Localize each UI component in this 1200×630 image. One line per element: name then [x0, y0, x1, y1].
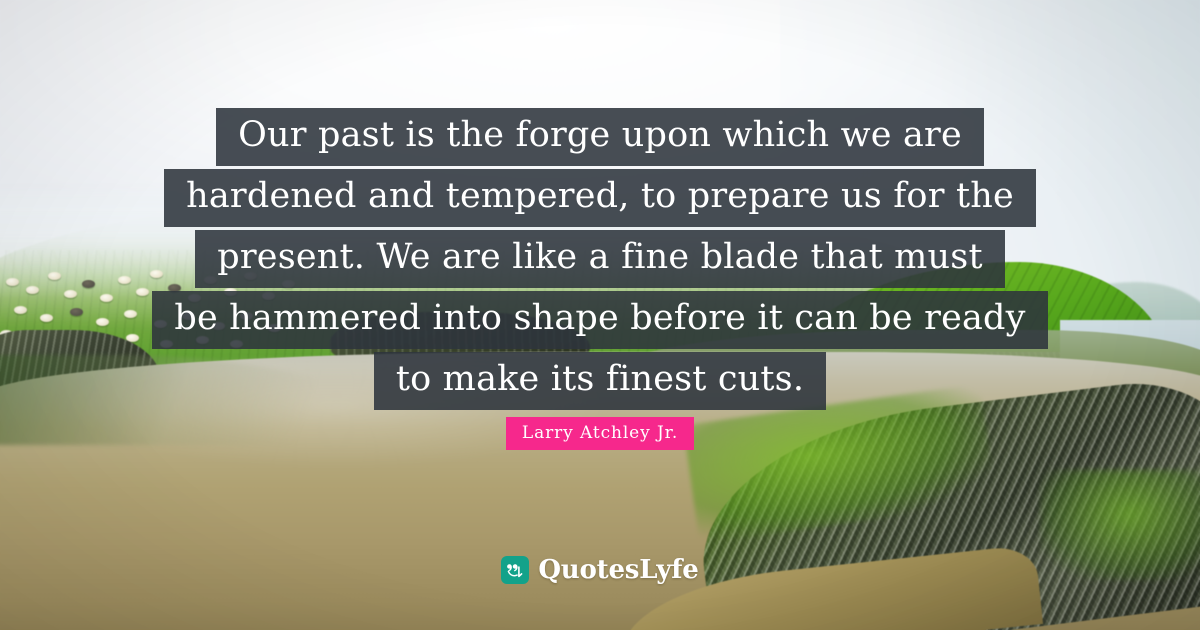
quote-line: Our past is the forge upon which we are [216, 108, 984, 166]
author-name-badge: Larry Atchley Jr. [506, 417, 694, 450]
quote-text-block: Our past is the forge upon which we are … [0, 108, 1200, 413]
quote-line: present. We are like a fine blade that m… [195, 230, 1004, 288]
quote-card: Our past is the forge upon which we are … [0, 0, 1200, 630]
quote-line: be hammered into shape before it can be … [152, 291, 1047, 349]
author-block: Larry Atchley Jr. [0, 417, 1200, 450]
brand-name: QuotesLyfe [538, 557, 698, 583]
brand-logo[interactable]: QuotesLyfe [0, 556, 1200, 584]
quote-line: to make its finest cuts. [374, 352, 826, 410]
quote-bubble-icon [501, 556, 529, 584]
quote-line: hardened and tempered, to prepare us for… [164, 169, 1036, 227]
